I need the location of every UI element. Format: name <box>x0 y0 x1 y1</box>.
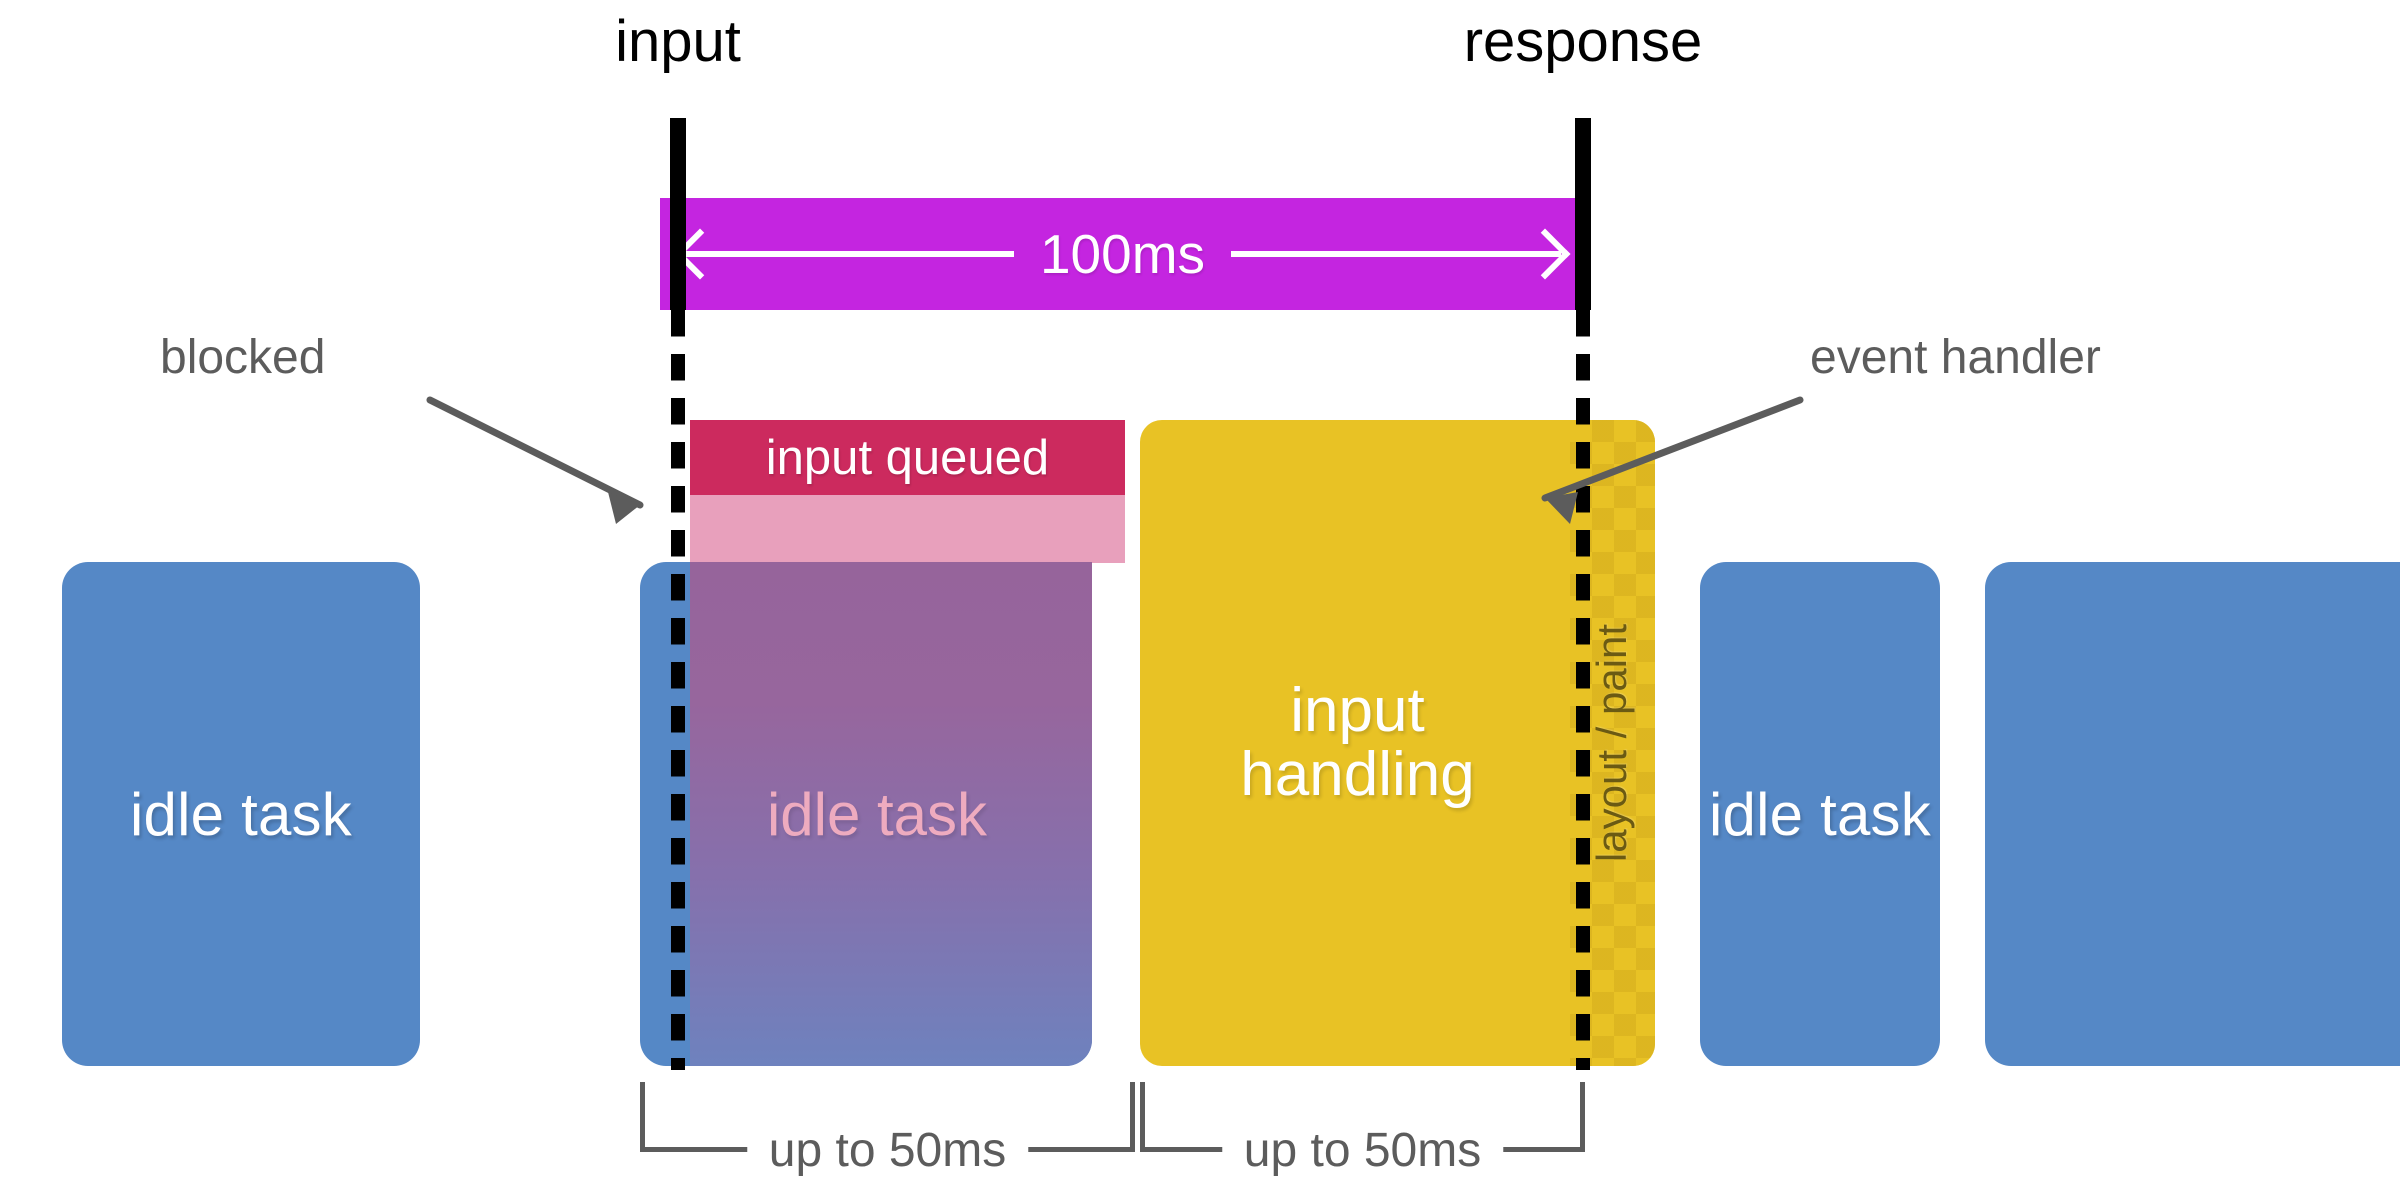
idle-task-block-1: idle task <box>62 562 420 1066</box>
bracket-label: up to 50ms <box>747 1123 1028 1178</box>
blocked-idle-task-label: idle task <box>767 780 987 849</box>
diagram-canvas: idle task idle task idle task input queu… <box>0 0 2400 1200</box>
input-queued-band: input queued <box>690 420 1125 495</box>
response-budget-band: 100ms <box>660 198 1585 310</box>
idle-task-block-4-clipped <box>1985 562 2400 1066</box>
blocked-idle-task-overlay: idle task <box>690 562 1092 1066</box>
input-marker-dashed-line <box>671 310 685 1070</box>
idle-task-label: idle task <box>1709 780 1931 849</box>
input-handling-label-line1: input <box>1290 679 1424 743</box>
response-marker-dashed-line <box>1576 310 1590 1070</box>
response-marker-line <box>1575 118 1591 310</box>
input-marker-line <box>670 118 686 310</box>
idle-task-label: idle task <box>130 780 352 849</box>
input-handling-label: input handling <box>1140 420 1575 1066</box>
input-handling-label-line2: handling <box>1240 743 1474 807</box>
input-queued-label: input queued <box>766 430 1049 486</box>
blocked-callout-label: blocked <box>160 330 325 385</box>
blocked-arrowhead <box>608 492 640 524</box>
bracket-queue-duration: up to 50ms <box>640 1082 1135 1152</box>
budget-duration-label: 100ms <box>1014 222 1231 286</box>
layout-paint-label: layout / paint <box>1589 624 1637 862</box>
event-handler-callout-label: event handler <box>1810 330 2101 385</box>
input-queued-band-light <box>690 495 1125 563</box>
arrow-right-icon <box>1520 229 1571 280</box>
response-marker-label: response <box>1464 8 1703 75</box>
idle-task-block-3: idle task <box>1700 562 1940 1066</box>
bracket-label: up to 50ms <box>1222 1123 1503 1178</box>
input-marker-label: input <box>615 8 741 75</box>
bracket-handling-duration: up to 50ms <box>1140 1082 1585 1152</box>
